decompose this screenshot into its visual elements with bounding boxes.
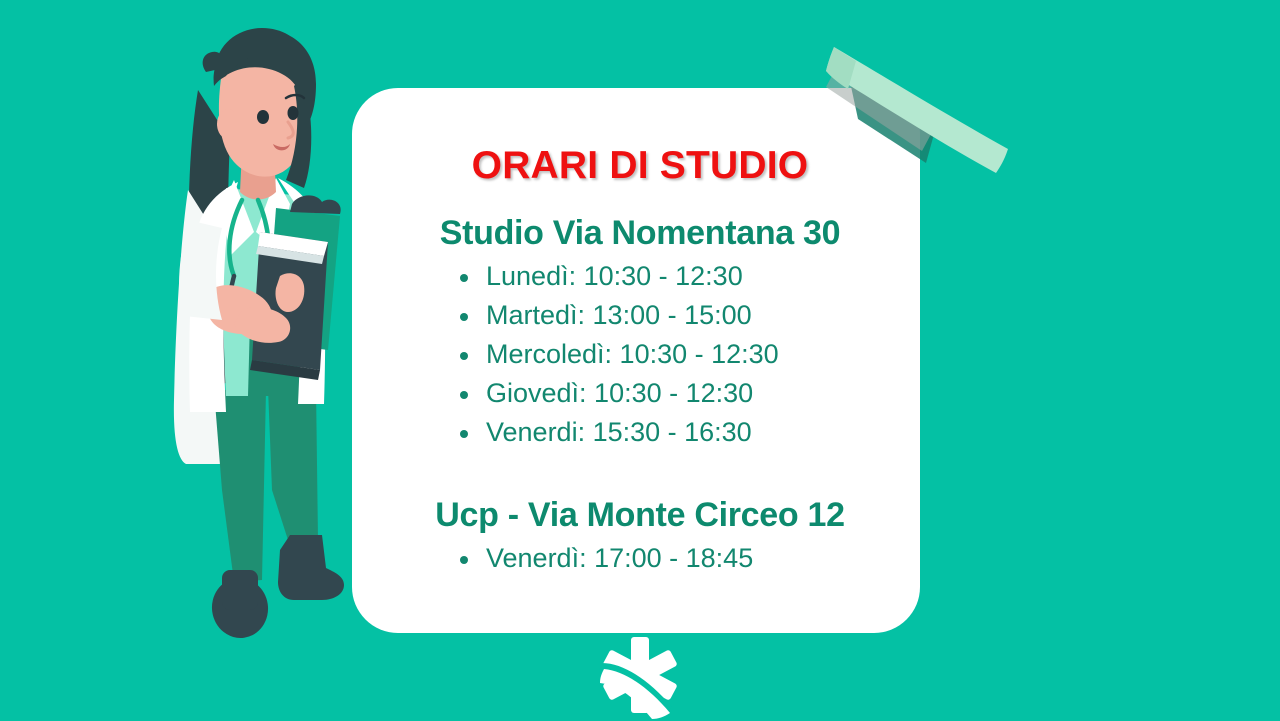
poster-canvas: ORARI DI STUDIO Studio Via Nomentana 30 … — [0, 0, 1280, 721]
list-item: Lunedì: 10:30 - 12:30 — [394, 257, 886, 296]
list-item: Martedì: 13:00 - 15:00 — [394, 296, 886, 335]
hours-list: Lunedì: 10:30 - 12:30 Martedì: 13:00 - 1… — [394, 257, 886, 452]
section-ucp-monte-circeo: Ucp - Via Monte Circeo 12 Venerdì: 17:00… — [394, 496, 886, 578]
hours-list: Venerdì: 17:00 - 18:45 — [394, 539, 886, 578]
doctor-illustration — [130, 20, 380, 680]
list-item: Venerdì: 17:00 - 18:45 — [394, 539, 886, 578]
page-title: ORARI DI STUDIO — [394, 144, 886, 188]
list-item: Mercoledì: 10:30 - 12:30 — [394, 335, 886, 374]
section-studio-nomentana: Studio Via Nomentana 30 Lunedì: 10:30 - … — [394, 214, 886, 452]
schedule-card: ORARI DI STUDIO Studio Via Nomentana 30 … — [352, 88, 920, 633]
list-item: Giovedì: 10:30 - 12:30 — [394, 374, 886, 413]
section-heading: Studio Via Nomentana 30 — [394, 214, 886, 253]
brand-logo-icon — [588, 633, 692, 721]
list-item: Venerdi: 15:30 - 16:30 — [394, 413, 886, 452]
card-content: ORARI DI STUDIO Studio Via Nomentana 30 … — [352, 88, 920, 633]
section-heading: Ucp - Via Monte Circeo 12 — [394, 496, 886, 535]
